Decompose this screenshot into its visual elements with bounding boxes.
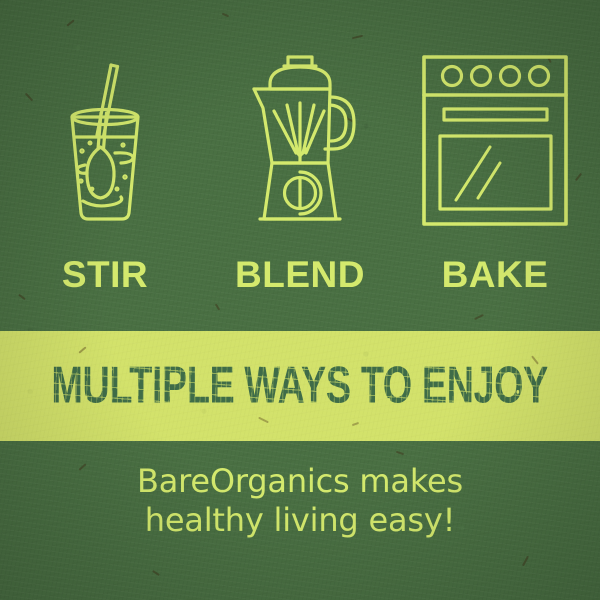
paper-fiber xyxy=(522,556,529,567)
paper-fiber xyxy=(396,451,404,455)
method-label-blend: BLEND xyxy=(203,253,398,297)
paper-fiber xyxy=(474,314,484,320)
paper-fiber xyxy=(352,422,359,426)
drinking-glass-with-spoon-icon xyxy=(45,53,165,228)
tagline: BareOrganics makes healthy living easy! xyxy=(0,462,600,540)
method-icon-blend xyxy=(203,40,398,240)
poster: STIR BLEND BAKE MULTIPLE WAYS TO ENJOY B… xyxy=(0,0,600,600)
tagline-line-1: BareOrganics makes xyxy=(0,462,600,501)
oven-icon xyxy=(420,53,570,228)
headline-banner: MULTIPLE WAYS TO ENJOY xyxy=(0,331,600,441)
paper-fiber xyxy=(152,570,160,576)
method-icon-bake xyxy=(398,40,593,240)
tagline-line-2: healthy living easy! xyxy=(0,501,600,540)
method-label-bake: BAKE xyxy=(398,253,593,297)
paper-fiber xyxy=(78,346,86,353)
paper-fiber xyxy=(258,417,269,424)
paper-fiber xyxy=(222,13,229,17)
method-label-stir: STIR xyxy=(8,253,203,297)
headline-text: MULTIPLE WAYS TO ENJOY xyxy=(52,357,549,416)
method-icon-stir xyxy=(8,40,203,240)
method-label-row: STIR BLEND BAKE xyxy=(0,250,600,300)
paper-fiber xyxy=(215,304,220,311)
method-icon-row xyxy=(0,40,600,240)
blender-icon xyxy=(238,53,363,228)
paper-fiber xyxy=(352,35,363,40)
paper-fiber xyxy=(66,19,74,26)
